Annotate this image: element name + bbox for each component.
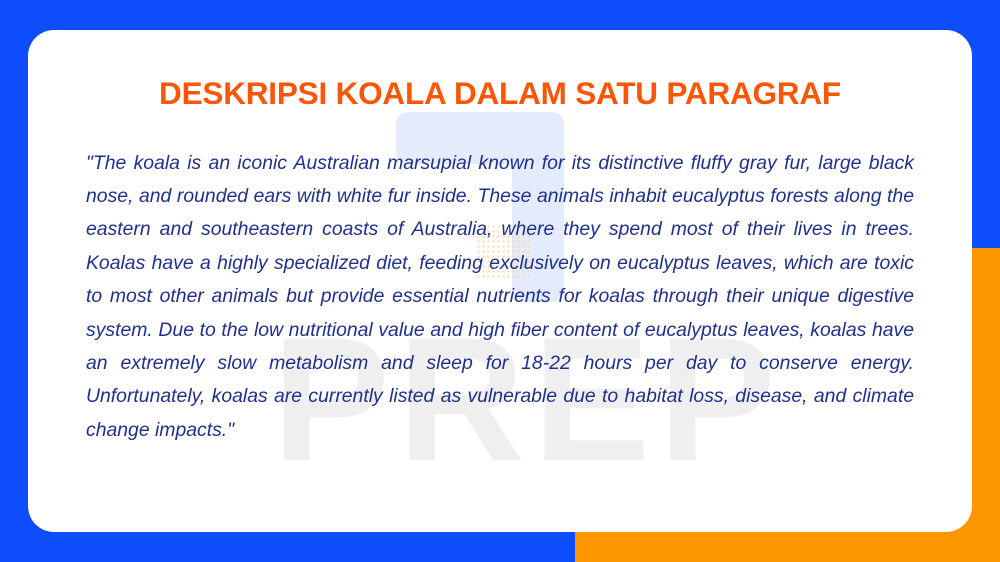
content-card: PREP DESKRIPSI KOALA DALAM SATU PARAGRAF…	[28, 30, 972, 532]
slide-canvas: PREP DESKRIPSI KOALA DALAM SATU PARAGRAF…	[0, 0, 1000, 562]
description-paragraph: "The koala is an iconic Australian marsu…	[58, 147, 942, 448]
page-title: DESKRIPSI KOALA DALAM SATU PARAGRAF	[58, 76, 942, 111]
card-content: DESKRIPSI KOALA DALAM SATU PARAGRAF "The…	[28, 30, 972, 447]
